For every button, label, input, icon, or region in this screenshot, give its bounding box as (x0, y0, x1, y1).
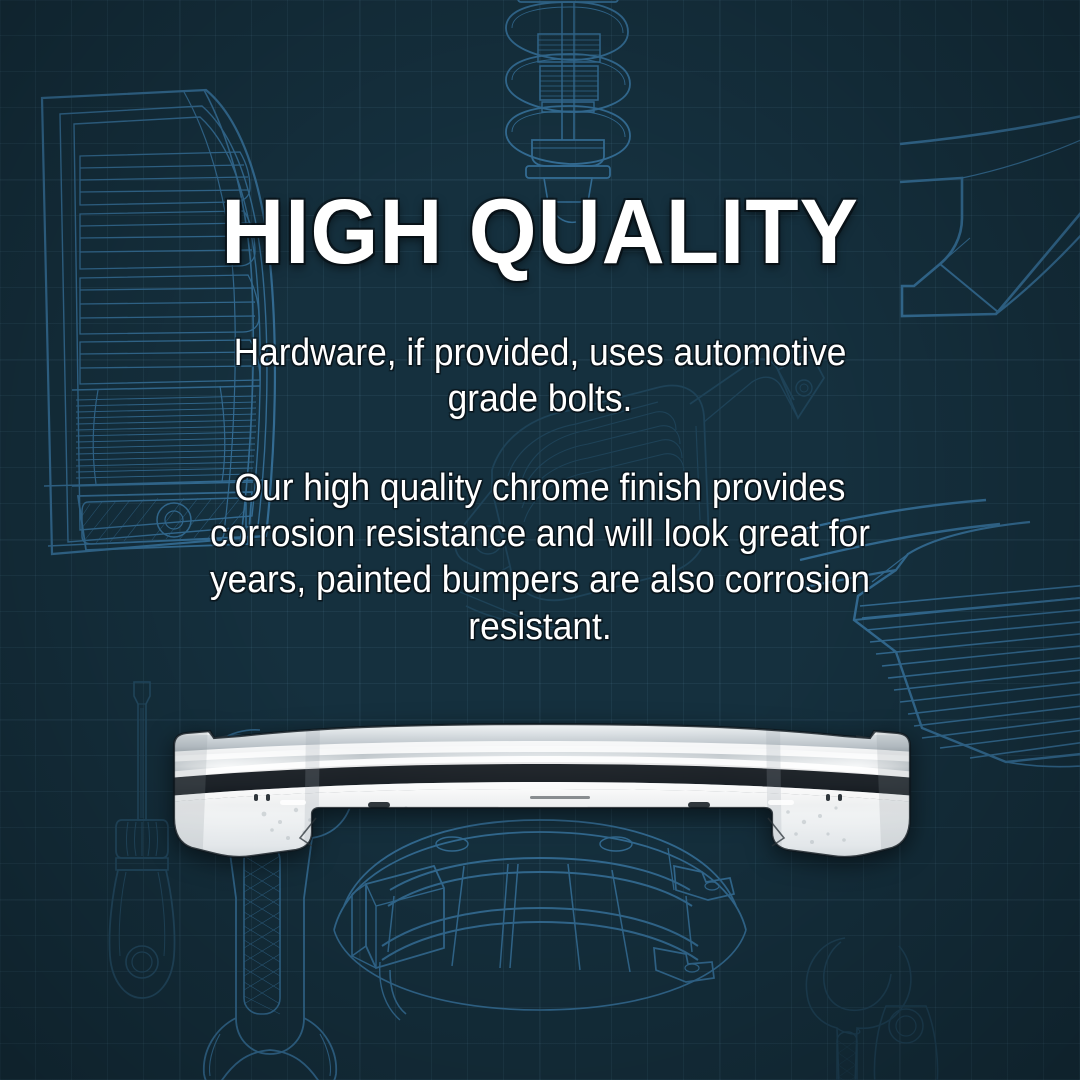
feature-paragraph-hardware: Hardware, if provided, uses automotive g… (187, 330, 894, 423)
screwdriver-handle-blueprint-2 (872, 996, 942, 1080)
promo-banner: HIGH QUALITY Hardware, if provided, uses… (0, 0, 1080, 1080)
text-block: HIGH QUALITY Hardware, if provided, uses… (0, 186, 1080, 650)
product-image-chrome-bumper (168, 722, 916, 870)
feature-paragraph-chrome-finish: Our high quality chrome finish provides … (173, 465, 908, 650)
page-title: HIGH QUALITY (27, 186, 1053, 278)
